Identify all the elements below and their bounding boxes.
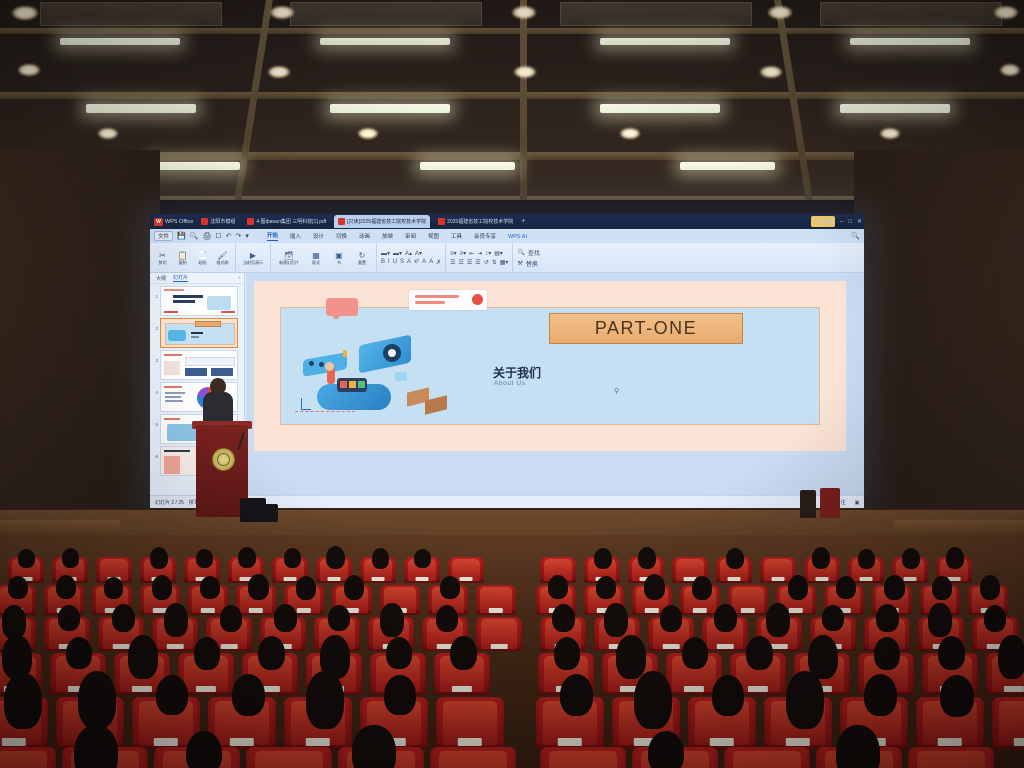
ribbon-tab-strip: 开始 插入 设计 切换 动画 放映 审阅 视图 工具 会员专享 WPS AI <box>267 231 527 241</box>
grow-font-icon[interactable]: A▴ <box>405 250 412 257</box>
shrink-font-icon[interactable]: A▾ <box>415 250 422 257</box>
format-painter-label: 格式刷 <box>217 260 229 265</box>
ribbon-group-paragraph: ≡▾ ≡▾ ⇤ ⇥ ↕▾ ▤▾ ☰ ☰ ☰ ☰ ↺ ⇅ ▦▾ <box>446 244 513 272</box>
replace-label: 替换 <box>526 259 538 268</box>
titlebar-tab[interactable]: 沈阳市模组 <box>197 215 239 228</box>
editing-row-top: 🔍 查找 <box>517 248 540 257</box>
search-icon[interactable]: 🔍 <box>851 232 860 240</box>
chevron-down-icon[interactable]: ▾ <box>245 232 249 240</box>
new-slide-button[interactable]: 🗃 新建幻灯片 <box>275 251 303 265</box>
slide-counter: 幻灯片 2 / 25 <box>155 499 184 506</box>
dashed-line-decoration <box>295 411 355 412</box>
save-icon[interactable]: 💾 <box>177 232 186 240</box>
slide-number: 3 <box>152 350 158 363</box>
tab-insert[interactable]: 插入 <box>290 232 301 241</box>
editing-controls: 🔍 查找 ⚒ 替换 <box>517 248 540 268</box>
file-menu-button[interactable]: 文件 <box>154 231 173 241</box>
copy-label: 复制 <box>179 260 187 265</box>
tab-view[interactable]: 视图 <box>428 232 439 241</box>
search-icon[interactable]: 🔍 <box>190 232 199 240</box>
layout-button[interactable]: ▦ 版式 <box>306 251 326 265</box>
slide-thumbnail-selected[interactable] <box>160 318 238 348</box>
part-label-box[interactable]: PART-ONE <box>549 313 743 344</box>
slide-thumbnail[interactable] <box>160 286 238 316</box>
new-tab-button[interactable]: + <box>521 218 525 225</box>
numbering-icon[interactable]: ≡▾ <box>460 250 467 257</box>
indent-decrease-icon[interactable]: ⇤ <box>469 250 474 257</box>
present-label: 当前页演示 <box>243 260 263 265</box>
tab-label: 沈阳市模组 <box>210 218 235 225</box>
quick-access-and-tabs: 文件 💾 🔍 🖨 ☐ ↶ ↷ ▾ 开始 插入 设计 切换 动画 放映 审阅 视图… <box>150 229 864 243</box>
slide-number: 1 <box>152 286 158 299</box>
new-slide-label: 新建幻灯片 <box>279 260 299 265</box>
align-left-icon[interactable]: ☰ <box>450 259 455 266</box>
slide-thumbnail[interactable] <box>160 350 238 380</box>
align-right-icon[interactable]: ☰ <box>467 259 472 266</box>
italic-icon[interactable]: I <box>388 259 390 265</box>
minimize-button[interactable]: – <box>840 219 843 225</box>
slide-number: 5 <box>152 414 158 427</box>
wps-logo-icon: W <box>154 218 163 226</box>
shadow-icon[interactable]: A <box>407 259 411 265</box>
section-button[interactable]: ▣ 节 <box>329 251 349 265</box>
speech-bubble-decoration <box>326 298 358 316</box>
tab-member[interactable]: 会员专享 <box>474 232 496 241</box>
bold-icon[interactable]: B <box>381 259 385 265</box>
present-current-button[interactable]: ▶ 当前页演示 <box>240 251 266 265</box>
highlight-icon[interactable]: A <box>429 259 433 265</box>
cut-icon: ✂ <box>159 251 166 260</box>
stage-speaker-box <box>240 498 266 522</box>
tab-wps-ai[interactable]: WPS AI <box>508 234 527 241</box>
titlebar-tab[interactable]: 4 图финал集团 三明科技[1].pdf <box>243 215 330 228</box>
align-text-icon[interactable]: ⇅ <box>492 259 497 266</box>
maximize-button[interactable]: □ <box>848 219 852 225</box>
tab-review[interactable]: 审阅 <box>405 232 416 241</box>
window-controls: 十分钟 – □ ✕ <box>811 216 862 227</box>
justify-icon[interactable]: ☰ <box>475 259 480 266</box>
auditorium-photo: W WPS Office 沈阳市模组 4 图финал集团 三明科技[1].pd… <box>0 0 1024 768</box>
redo-icon[interactable]: ↷ <box>236 232 242 240</box>
strikethrough-icon[interactable]: S <box>400 259 404 265</box>
tab-animation[interactable]: 动画 <box>359 232 370 241</box>
list-item[interactable]: 2 <box>152 318 245 348</box>
columns-icon[interactable]: ▤▾ <box>494 250 503 257</box>
paragraph-row-bottom: ☰ ☰ ☰ ☰ ↺ ⇅ ▦▾ <box>450 259 508 266</box>
align-center-icon[interactable]: ☰ <box>459 259 464 266</box>
cut-button[interactable]: ✂ 剪切 <box>154 251 171 265</box>
tab-label: 2025福建省技工院校技术学院 <box>447 218 513 225</box>
wps-title-bar: W WPS Office 沈阳市模组 4 图финал集团 三明科技[1].pd… <box>150 214 864 229</box>
underline-icon[interactable]: U <box>393 259 397 265</box>
bullets-icon[interactable]: ≡▾ <box>450 250 457 257</box>
audience-area <box>0 535 1024 768</box>
new-slide-icon: 🗃 <box>284 251 294 260</box>
cut-label: 剪切 <box>159 260 167 265</box>
quick-access-toolbar: 文件 💾 🔍 🖨 ☐ ↶ ↷ ▾ <box>150 231 249 241</box>
paste-button[interactable]: 📄 粘贴 <box>194 251 211 265</box>
tab-file-icon <box>247 218 254 225</box>
ribbon-right-tools: 🔍 <box>851 232 860 240</box>
thumbnail-pane-tabs: 大纲 幻灯片 ‹ <box>150 273 244 284</box>
podium-emblem <box>212 448 235 471</box>
wps-logo: W WPS Office <box>150 218 193 226</box>
print-preview-icon[interactable]: ☐ <box>215 232 221 240</box>
tab-transition[interactable]: 切换 <box>336 232 347 241</box>
current-slide[interactable]: PART-ONE 关于我们 About Us ⚲ <box>254 281 846 451</box>
find-label: 查找 <box>528 248 540 257</box>
find-icon[interactable]: 🔍 <box>517 249 524 256</box>
indent-increase-icon[interactable]: ⇥ <box>477 250 482 257</box>
ribbon-toolbar: ✂ 剪切 📋 复制 📄 粘贴 🖌 格式刷 ▶ <box>150 243 864 273</box>
tab-slideshow[interactable]: 放映 <box>382 232 393 241</box>
tab-slides[interactable]: 幻灯片 <box>173 274 188 282</box>
stage-speaker-box <box>800 490 816 518</box>
list-item[interactable]: 1 <box>152 286 245 316</box>
smart-art-icon[interactable]: ▦▾ <box>500 259 509 266</box>
copy-icon: 📋 <box>178 251 188 260</box>
tab-start[interactable]: 开始 <box>267 231 278 241</box>
left-wall <box>0 150 160 570</box>
font-row-bottom: B I U S A x² A A ✗ <box>381 259 441 266</box>
ribbon-group-slideshow: ▶ 当前页演示 <box>236 244 271 272</box>
titlebar-tab[interactable]: 2025福建省技工院校技术学院 <box>434 215 517 228</box>
projection-screen: W WPS Office 沈阳市模组 4 图финал集团 三明科技[1].pd… <box>150 214 864 510</box>
font-size-box[interactable]: ▬▾ <box>393 250 402 257</box>
vip-badge[interactable]: 十分钟 <box>811 216 835 227</box>
stage-step <box>0 520 120 536</box>
layout-icon: ▦ <box>312 251 320 260</box>
close-button[interactable]: ✕ <box>857 218 862 225</box>
font-row-top: ▬▾ ▬▾ A▴ A▾ <box>381 250 441 257</box>
section-icon: ▣ <box>335 251 343 260</box>
slide-number: 2 <box>152 318 158 331</box>
list-item[interactable]: 3 <box>152 350 245 380</box>
ribbon-group-font: ▬▾ ▬▾ A▴ A▾ B I U S A x² A A ✗ <box>377 244 446 272</box>
tab-file-icon <box>338 218 345 225</box>
text-direction-icon[interactable]: ↺ <box>484 259 489 266</box>
slide-editing-canvas[interactable]: PART-ONE 关于我们 About Us ⚲ <box>246 273 864 495</box>
titlebar-tab-active[interactable]: [只读]2025福建省技工院校技术学院 <box>334 215 430 228</box>
paragraph-controls: ≡▾ ≡▾ ⇤ ⇥ ↕▾ ▤▾ ☰ ☰ ☰ ☰ ↺ ⇅ ▦▾ <box>450 250 508 266</box>
ribbon-group-clipboard: ✂ 剪切 📋 复制 📄 粘贴 🖌 格式刷 <box>150 244 236 272</box>
tab-label: [只读]2025福建省技工院校技术学院 <box>347 218 426 225</box>
format-painter-button[interactable]: 🖌 格式刷 <box>214 251 231 265</box>
tab-outline[interactable]: 大纲 <box>156 275 166 282</box>
undo-icon[interactable]: ↶ <box>226 232 232 240</box>
app-name: WPS Office <box>165 219 193 225</box>
play-icon: ▶ <box>250 251 256 260</box>
paste-icon: 📄 <box>198 251 208 260</box>
layout-label: 版式 <box>312 260 320 265</box>
chevron-left-icon[interactable]: ‹ <box>238 275 240 281</box>
tab-file-icon <box>438 218 445 225</box>
reset-button[interactable]: ↻ 重置 <box>352 251 372 265</box>
tab-design[interactable]: 设计 <box>313 232 324 241</box>
print-icon[interactable]: 🖨 <box>202 232 211 240</box>
paste-label: 粘贴 <box>199 260 207 265</box>
font-controls: ▬▾ ▬▾ A▴ A▾ B I U S A x² A A ✗ <box>381 250 441 266</box>
section-label: 节 <box>337 260 341 265</box>
ribbon-group-editing: 🔍 查找 ⚒ 替换 <box>513 244 544 272</box>
reset-label: 重置 <box>358 260 366 265</box>
font-color-icon[interactable]: A <box>422 259 426 265</box>
format-painter-icon: 🖌 <box>217 251 227 260</box>
pointer-icon: ⚲ <box>614 387 619 395</box>
normal-view-icon[interactable]: ▣ <box>855 500 860 506</box>
reset-icon: ↻ <box>359 251 366 260</box>
stage-speaker-box <box>820 488 840 518</box>
tab-label: 4 图финал集团 三明科技[1].pdf <box>256 218 326 225</box>
replace-icon[interactable]: ⚒ <box>517 260 522 267</box>
copy-button[interactable]: 📋 复制 <box>174 251 191 265</box>
line-spacing-icon[interactable]: ↕▾ <box>485 250 491 257</box>
font-name-box[interactable]: ▬▾ <box>381 250 390 257</box>
part-label-text: PART-ONE <box>595 318 697 339</box>
slide-number: 4 <box>152 382 158 395</box>
slide-number: 6 <box>152 446 158 459</box>
stage-speaker-box <box>264 504 278 522</box>
slide-title-cn[interactable]: 关于我们 <box>493 364 541 381</box>
tab-file-icon <box>201 218 208 225</box>
clear-format-icon[interactable]: ✗ <box>436 259 441 266</box>
badge-decoration <box>409 290 487 310</box>
ribbon-group-slides: 🗃 新建幻灯片 ▦ 版式 ▣ 节 ↻ 重置 <box>271 244 377 272</box>
slide-content-frame: PART-ONE 关于我们 About Us ⚲ <box>280 307 820 425</box>
tab-tools[interactable]: 工具 <box>451 232 462 241</box>
superscript-icon[interactable]: x² <box>414 259 419 265</box>
slide-subtitle-en[interactable]: About Us <box>494 380 526 387</box>
badge-circle-icon <box>472 294 483 305</box>
stage-step <box>894 520 1024 536</box>
right-wall <box>854 150 1024 570</box>
editing-row-bottom: ⚒ 替换 <box>517 259 540 268</box>
paragraph-row-top: ≡▾ ≡▾ ⇤ ⇥ ↕▾ ▤▾ <box>450 250 508 257</box>
